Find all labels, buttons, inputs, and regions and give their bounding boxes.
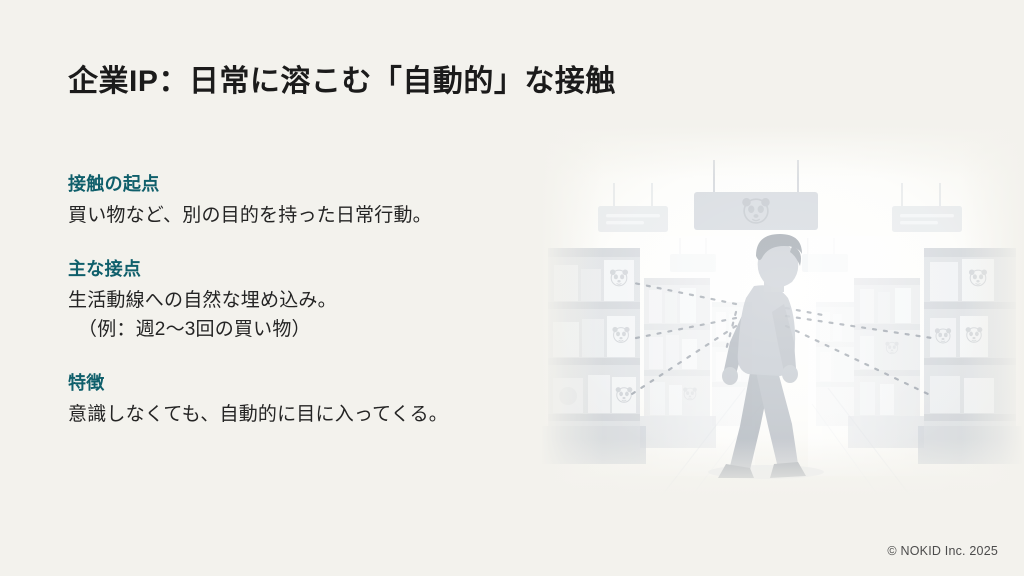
content-block-main-touchpoint: 主な接点 生活動線への自然な埋め込み。 （例：週2〜3回の買い物） [68,257,518,345]
ceiling-sign-left [598,183,668,232]
ceiling-sign-right [892,183,962,232]
slide-canvas: 企業IP：日常に溶こむ「自動的」な接触 接触の起点 買い物など、別の目的を持った… [0,0,1024,576]
block-heading-contact-origin: 接触の起点 [68,172,518,196]
illustration-supermarket-aisle [540,126,1024,498]
footer-copyright: © NOKID Inc. 2025 [887,544,998,558]
illustration-svg [540,126,1024,498]
content-column: 接触の起点 買い物など、別の目的を持った日常行動。 主な接点 生活動線への自然な… [68,172,518,430]
shelf-right-near [918,248,1022,464]
block-body-main-touchpoint: 生活動線への自然な埋め込み。 [68,286,518,315]
block-body-feature: 意識しなくても、自動的に目に入ってくる。 [68,400,518,429]
ceiling-sign-inner-left [670,238,716,272]
ceiling-sign-inner-right [802,238,848,272]
ceiling-sign-center-panda [694,160,818,230]
shelf-left-near [542,248,646,464]
shelf-right-far [848,278,924,448]
content-block-contact-origin: 接触の起点 買い物など、別の目的を持った日常行動。 [68,172,518,231]
block-body-contact-origin: 買い物など、別の目的を持った日常行動。 [68,201,518,230]
content-block-feature: 特徴 意識しなくても、自動的に目に入ってくる。 [68,371,518,430]
page-title: 企業IP：日常に溶こむ「自動的」な接触 [68,62,616,101]
block-subnote-main-touchpoint: （例：週2〜3回の買い物） [68,315,518,344]
block-heading-main-touchpoint: 主な接点 [68,257,518,281]
block-heading-feature: 特徴 [68,371,518,395]
